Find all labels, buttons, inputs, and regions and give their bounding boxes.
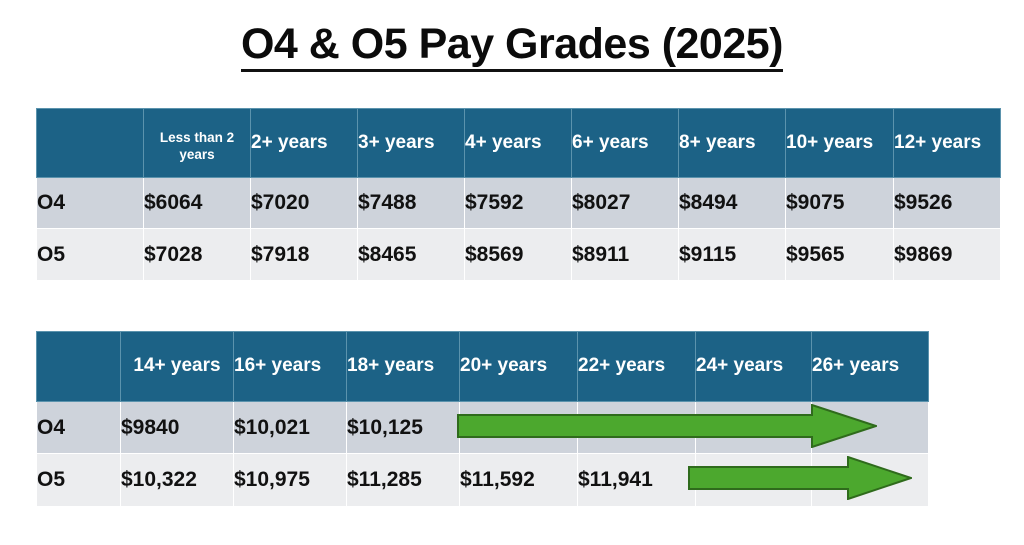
pay-cell: $9565 bbox=[786, 229, 894, 281]
pay-table-years-14-26: 14+ years 16+ years 18+ years 20+ years … bbox=[36, 331, 929, 507]
page-title: O4 & O5 Pay Grades (2025) bbox=[241, 22, 783, 72]
pay-cell bbox=[578, 402, 696, 454]
header-cell-8-years: 8+ years bbox=[679, 109, 786, 178]
pay-cell: $7918 bbox=[251, 229, 358, 281]
pay-cell: $9840 bbox=[121, 402, 234, 454]
header-cell-26-years: 26+ years bbox=[812, 332, 929, 402]
grade-label-o5: O5 bbox=[37, 454, 121, 507]
pay-cell: $9115 bbox=[679, 229, 786, 281]
pay-cell: $11,941 bbox=[578, 454, 696, 507]
header-cell-grade bbox=[37, 332, 121, 402]
table-row: O5 $7028 $7918 $8465 $8569 $8911 $9115 $… bbox=[37, 229, 1001, 281]
pay-cell: $8465 bbox=[358, 229, 465, 281]
header-cell-18-years: 18+ years bbox=[347, 332, 460, 402]
pay-cell: $7488 bbox=[358, 178, 465, 229]
pay-cell: $11,285 bbox=[347, 454, 460, 507]
header-cell-24-years: 24+ years bbox=[696, 332, 812, 402]
title-container: O4 & O5 Pay Grades (2025) bbox=[0, 22, 1024, 72]
pay-cell: $9869 bbox=[894, 229, 1001, 281]
grade-label-o4: O4 bbox=[37, 178, 144, 229]
pay-cell bbox=[812, 402, 929, 454]
pay-cell: $10,125 bbox=[347, 402, 460, 454]
pay-cell: $7028 bbox=[144, 229, 251, 281]
header-cell-4-years: 4+ years bbox=[465, 109, 572, 178]
pay-cell: $9526 bbox=[894, 178, 1001, 229]
pay-cell: $7020 bbox=[251, 178, 358, 229]
table-row: O4 $9840 $10,021 $10,125 bbox=[37, 402, 929, 454]
pay-cell: $10,975 bbox=[234, 454, 347, 507]
header-cell-6-years: 6+ years bbox=[572, 109, 679, 178]
pay-cell: $7592 bbox=[465, 178, 572, 229]
pay-cell: $8027 bbox=[572, 178, 679, 229]
pay-cell: $9075 bbox=[786, 178, 894, 229]
pay-cell: $8569 bbox=[465, 229, 572, 281]
table-row: O5 $10,322 $10,975 $11,285 $11,592 $11,9… bbox=[37, 454, 929, 507]
header-cell-20-years: 20+ years bbox=[460, 332, 578, 402]
pay-cell bbox=[696, 454, 812, 507]
pay-cell bbox=[696, 402, 812, 454]
table-row-header: Less than 2 years 2+ years 3+ years 4+ y… bbox=[37, 109, 1001, 178]
header-cell-grade bbox=[37, 109, 144, 178]
grade-label-o5: O5 bbox=[37, 229, 144, 281]
grade-label-o4: O4 bbox=[37, 402, 121, 454]
table-row-header: 14+ years 16+ years 18+ years 20+ years … bbox=[37, 332, 929, 402]
header-cell-2-years: 2+ years bbox=[251, 109, 358, 178]
pay-cell bbox=[812, 454, 929, 507]
header-cell-less-than-2-years: Less than 2 years bbox=[144, 109, 251, 178]
header-cell-12-years: 12+ years bbox=[894, 109, 1001, 178]
pay-cell: $8911 bbox=[572, 229, 679, 281]
pay-cell: $6064 bbox=[144, 178, 251, 229]
pay-cell: $10,021 bbox=[234, 402, 347, 454]
pay-cell: $10,322 bbox=[121, 454, 234, 507]
pay-table-years-0-12: Less than 2 years 2+ years 3+ years 4+ y… bbox=[36, 108, 1001, 281]
header-cell-16-years: 16+ years bbox=[234, 332, 347, 402]
pay-cell bbox=[460, 402, 578, 454]
header-cell-3-years: 3+ years bbox=[358, 109, 465, 178]
header-cell-10-years: 10+ years bbox=[786, 109, 894, 178]
header-cell-22-years: 22+ years bbox=[578, 332, 696, 402]
header-cell-14-years: 14+ years bbox=[121, 332, 234, 402]
pay-cell: $11,592 bbox=[460, 454, 578, 507]
table-row: O4 $6064 $7020 $7488 $7592 $8027 $8494 $… bbox=[37, 178, 1001, 229]
pay-cell: $8494 bbox=[679, 178, 786, 229]
